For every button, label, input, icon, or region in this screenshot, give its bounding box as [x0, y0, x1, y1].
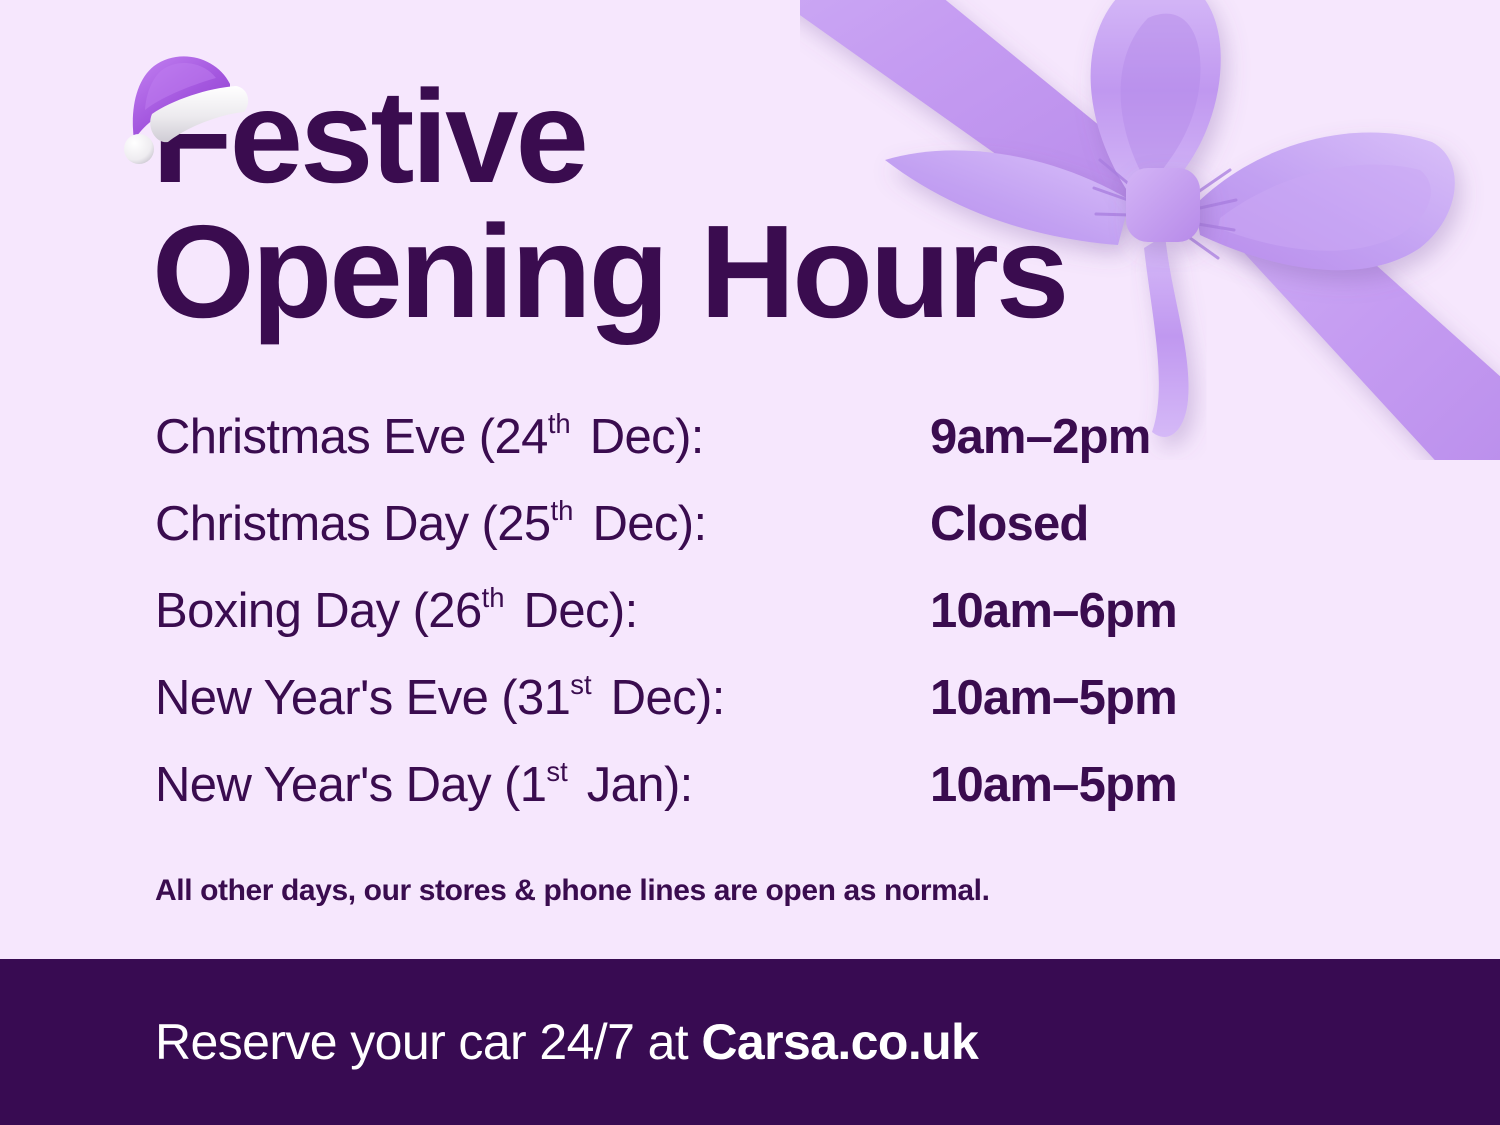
footer-lead-text: Reserve your car 24/7 at	[155, 1014, 701, 1070]
opening-hours-table: Christmas Eve (24th Dec): 9am–2pm Christ…	[155, 408, 1335, 843]
hours-value: Closed	[930, 496, 1089, 552]
footnote-text: All other days, our stores & phone lines…	[155, 874, 990, 908]
hours-value: 10am–5pm	[930, 757, 1177, 813]
day-label: New Year's Eve (31st Dec):	[155, 669, 930, 726]
festive-opening-hours-poster: Festive Opening Hours Christmas Eve (24t…	[0, 0, 1500, 1125]
hours-value: 10am–5pm	[930, 670, 1177, 726]
ordinal-suffix: th	[548, 408, 577, 439]
brand-name[interactable]: Carsa.co.uk	[701, 1014, 978, 1070]
day-label: New Year's Day (1st Jan):	[155, 756, 930, 813]
ordinal-suffix: st	[546, 756, 573, 787]
table-row: Christmas Eve (24th Dec): 9am–2pm	[155, 408, 1335, 495]
page-title: Festive Opening Hours	[152, 70, 1066, 339]
ordinal-suffix: th	[551, 495, 580, 526]
footer-banner: Reserve your car 24/7 at Carsa.co.uk	[0, 959, 1500, 1125]
table-row: Boxing Day (26th Dec): 10am–6pm	[155, 582, 1335, 669]
ordinal-suffix: st	[570, 669, 597, 700]
table-row: New Year's Eve (31st Dec): 10am–5pm	[155, 669, 1335, 756]
table-row: Christmas Day (25th Dec): Closed	[155, 495, 1335, 582]
footer-cta: Reserve your car 24/7 at Carsa.co.uk	[155, 1013, 978, 1071]
hours-value: 9am–2pm	[930, 409, 1150, 465]
day-label: Christmas Day (25th Dec):	[155, 495, 930, 552]
santa-hat-icon	[112, 48, 262, 188]
table-row: New Year's Day (1st Jan): 10am–5pm	[155, 756, 1335, 843]
ordinal-suffix: th	[482, 582, 511, 613]
day-label: Christmas Eve (24th Dec):	[155, 408, 930, 465]
hours-value: 10am–6pm	[930, 583, 1177, 639]
day-label: Boxing Day (26th Dec):	[155, 582, 930, 639]
